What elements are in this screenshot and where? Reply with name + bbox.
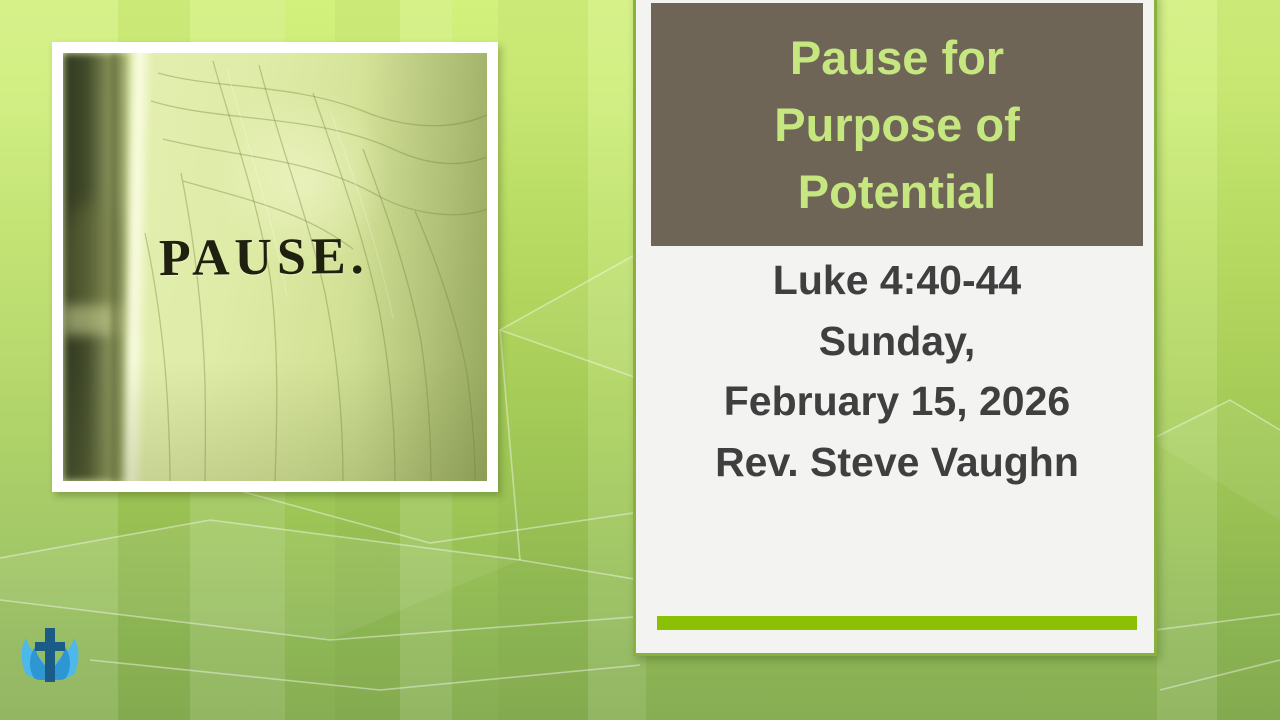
title-line: Pause for xyxy=(717,24,1077,91)
photo-stamped-word: PAUSE. xyxy=(159,227,369,288)
service-day: Sunday, xyxy=(651,311,1143,372)
title-block: Pause for Purpose of Potential xyxy=(651,3,1143,246)
background-band xyxy=(1217,0,1280,720)
service-date: February 15, 2026 xyxy=(651,371,1143,432)
slide-title: Pause for Purpose of Potential xyxy=(717,24,1077,226)
accent-bar xyxy=(657,616,1137,630)
content-card: Pause for Purpose of Potential Luke 4:40… xyxy=(633,0,1157,656)
cross-and-flame-icon xyxy=(16,622,84,690)
speaker-name: Rev. Steve Vaughn xyxy=(651,432,1143,493)
title-line: Purpose of xyxy=(717,91,1077,158)
background-band xyxy=(1157,0,1217,720)
background-band xyxy=(498,0,588,720)
photo-bottom-shading xyxy=(63,361,487,481)
presentation-slide: PAUSE. Pause for Purpose of Potential Lu… xyxy=(0,0,1280,720)
pause-photo: PAUSE. xyxy=(63,53,487,481)
title-line: Potential xyxy=(717,158,1077,225)
subtitle-block: Luke 4:40-44 Sunday, February 15, 2026 R… xyxy=(651,250,1143,493)
pause-photo-frame: PAUSE. xyxy=(52,42,498,492)
scripture-reference: Luke 4:40-44 xyxy=(651,250,1143,311)
